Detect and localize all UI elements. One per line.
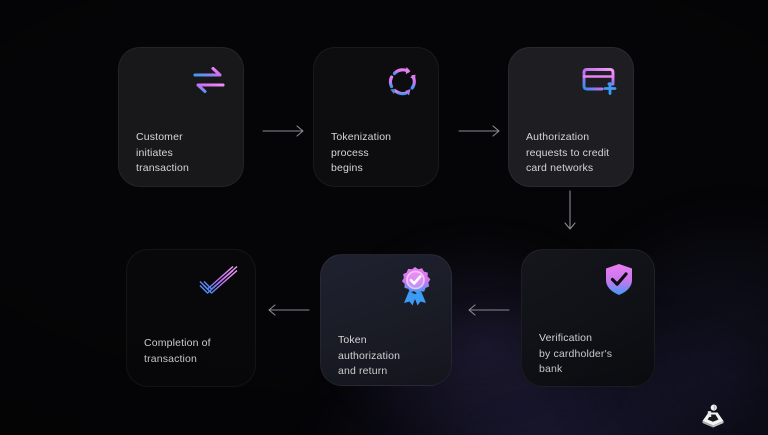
step-card-label: Verification by cardholder's bank [539, 331, 612, 378]
step-card-label: Authorization requests to credit card ne… [526, 130, 609, 177]
step-card-label: Completion of transaction [144, 336, 211, 367]
step-card-tokenization-process-begins[interactable]: Tokenization process begins [313, 47, 439, 187]
award-badge-check-icon [395, 265, 435, 312]
connector-arrow-left-1 [462, 303, 510, 322]
step-card-verification-by-bank[interactable]: Verification by cardholder's bank [521, 249, 655, 387]
connector-arrow-right-1 [262, 124, 310, 143]
diagram-canvas: Customer initiates transaction Tokeni [0, 0, 768, 435]
credit-card-plus-icon [579, 62, 621, 105]
step-card-label: Customer initiates transaction [136, 130, 189, 177]
step-card-customer-initiates-transaction[interactable]: Customer initiates transaction [118, 47, 244, 187]
step-card-label: Tokenization process begins [331, 130, 391, 177]
connector-arrow-down [563, 190, 577, 241]
isometric-logo-watermark [699, 404, 727, 428]
connector-arrow-right-2 [458, 124, 506, 143]
connector-arrow-left-2 [262, 303, 310, 322]
swap-arrows-icon [189, 63, 229, 102]
step-card-token-authorization-and-return[interactable]: Token authorization and return [320, 254, 452, 386]
step-card-label: Token authorization and return [338, 333, 400, 380]
shield-check-icon [602, 261, 636, 304]
circular-arrows-icon [384, 64, 422, 105]
step-card-completion-of-transaction[interactable]: Completion of transaction [126, 249, 256, 387]
double-check-icon [195, 262, 245, 305]
step-card-authorization-requests[interactable]: Authorization requests to credit card ne… [508, 47, 634, 187]
